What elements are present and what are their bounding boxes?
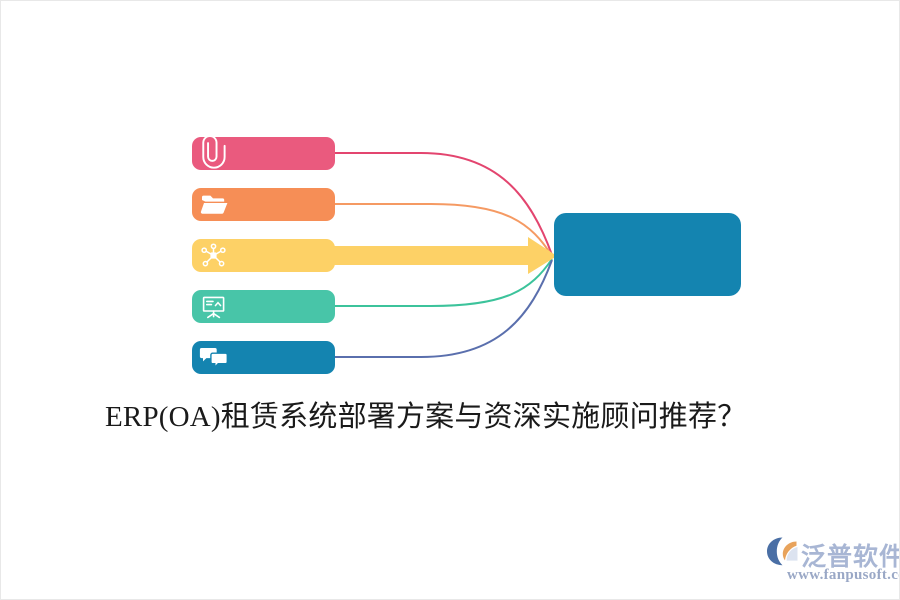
page-title: ERP(OA)租赁系统部署方案与资深实施顾问推荐？ bbox=[105, 399, 805, 435]
presentation-node[interactable] bbox=[192, 290, 335, 323]
connector-presentation bbox=[335, 259, 552, 306]
diagram-page: ERP(OA)租赁系统部署方案与资深实施顾问推荐？ 泛普软件 www.fanpu… bbox=[0, 0, 900, 600]
folder-node[interactable] bbox=[192, 188, 335, 221]
brand-url: www.fanpusoft.com bbox=[787, 567, 900, 584]
network-node[interactable] bbox=[192, 239, 335, 272]
fanpu-logo-mark bbox=[765, 535, 801, 567]
connector-chat bbox=[335, 260, 552, 357]
target-box[interactable] bbox=[554, 213, 741, 296]
attachment-node[interactable] bbox=[192, 136, 335, 170]
convergence-flow-diagram bbox=[1, 1, 900, 600]
brand-logo[interactable]: 泛普软件 www.fanpusoft.com bbox=[765, 535, 891, 587]
chat-node[interactable] bbox=[192, 341, 335, 374]
connector-network-arrow bbox=[331, 237, 557, 274]
